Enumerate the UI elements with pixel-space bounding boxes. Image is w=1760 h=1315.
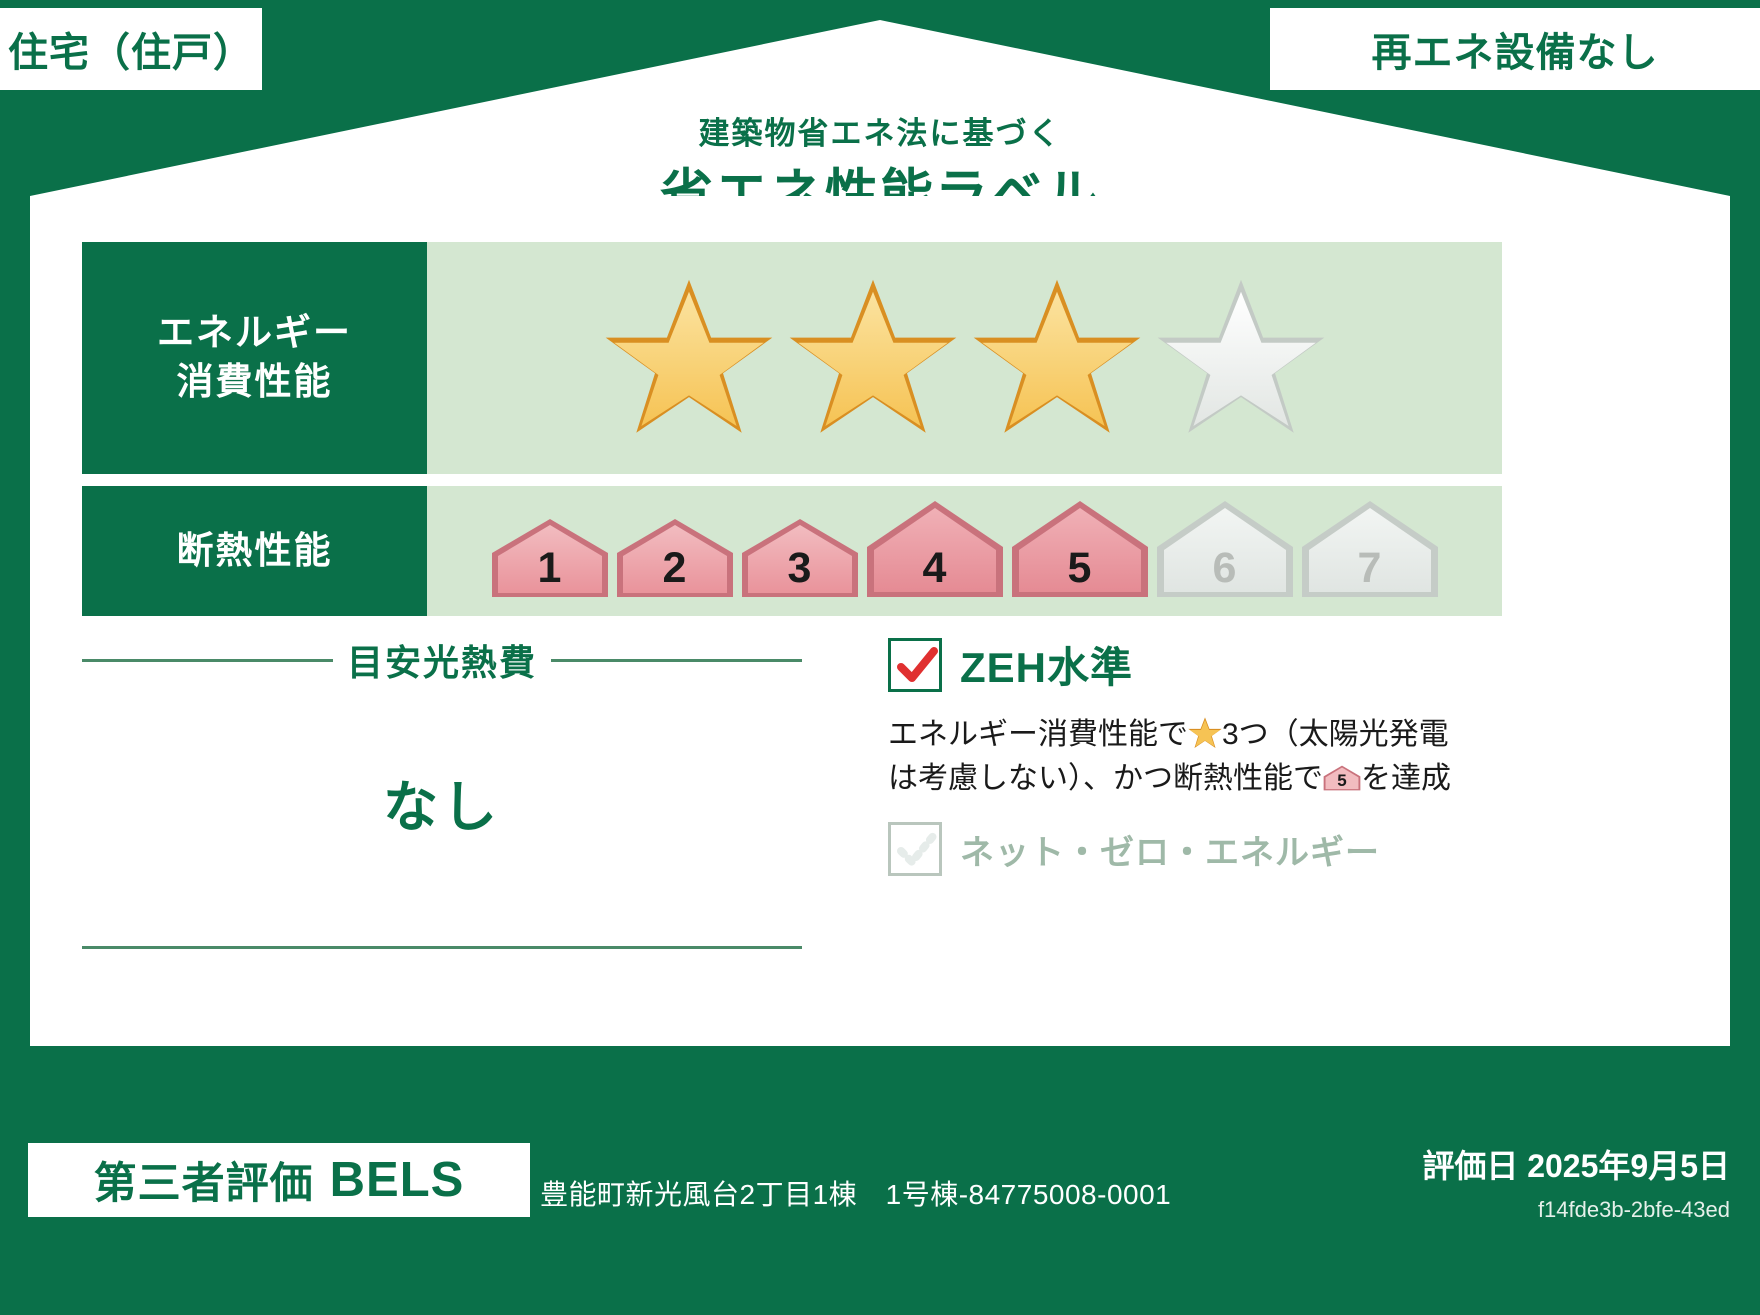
bels-energy-label: 住宅（住戸） 再エネ設備なし 建築物省エネ法に基づく 省エネ性能ラベル エネルギ… [0, 0, 1760, 1315]
star-rating [604, 276, 1326, 440]
label-card: エネルギー 消費性能 [30, 196, 1730, 1046]
zeh-title: ZEH水準 [960, 634, 1133, 695]
zeh-desc-line1-post: 3つ（太陽光発電 [1222, 718, 1449, 751]
utility-cost-title: 目安光熱費 [347, 634, 537, 686]
insulation-level-number: 4 [865, 544, 1005, 593]
zeh-block: ZEH水準 エネルギー消費性能で3つ（太陽光発電 は考慮しない）、かつ断熱性能で… [888, 634, 1518, 876]
footer: 第三者評価 BELS 豊能町新光風台2丁目1棟 1号棟-84775008-000… [0, 1047, 1760, 1315]
star-icon-empty-4 [1156, 276, 1326, 440]
insulation-badge-inline-number: 5 [1323, 769, 1361, 794]
certificate-id: f14fde3b-2bfe-43ed [1538, 1197, 1730, 1223]
energy-label-line1: エネルギー [157, 309, 352, 358]
insulation-level-scale: 1 2 [490, 495, 1440, 607]
badge-renewable-status: 再エネ設備なし [1270, 8, 1760, 90]
insulation-badge-inline: 5 [1323, 761, 1361, 795]
divider-right [551, 659, 802, 662]
net-zero-energy-row: ネット・ゼロ・エネルギー [888, 822, 1518, 876]
star-icon-filled-2 [788, 276, 958, 440]
divider-left [82, 659, 333, 662]
insulation-level-number: 6 [1155, 544, 1295, 593]
utility-cost-header: 目安光熱費 [82, 634, 802, 686]
net-zero-energy-checkbox[interactable] [888, 822, 942, 876]
property-address: 豊能町新光風台2丁目1棟 1号棟-84775008-0001 [540, 1173, 1171, 1213]
insulation-level-number: 2 [615, 544, 735, 593]
star-icon-filled-1 [604, 276, 774, 440]
zeh-desc-line2-post: を達成 [1361, 762, 1451, 795]
insulation-house-6: 6 [1155, 495, 1295, 603]
star-icon-inline [1188, 716, 1222, 750]
insulation-level-number: 5 [1010, 544, 1150, 593]
bels-badge: 第三者評価 BELS [28, 1143, 530, 1217]
insulation-house-3: 3 [740, 513, 860, 603]
insulation-house-2: 2 [615, 513, 735, 603]
zeh-checkbox[interactable] [888, 638, 942, 692]
insulation-house-4: 4 [865, 495, 1005, 603]
insulation-level-number: 1 [490, 544, 610, 593]
title-subtitle: 建築物省エネ法に基づく [0, 108, 1760, 153]
energy-performance-label: エネルギー 消費性能 [82, 242, 427, 474]
energy-performance-row: エネルギー 消費性能 [82, 242, 1502, 474]
zeh-description: エネルギー消費性能で3つ（太陽光発電 は考慮しない）、かつ断熱性能で5を達成 [888, 713, 1518, 800]
zeh-header: ZEH水準 [888, 634, 1518, 695]
zeh-desc-line2-pre: は考慮しない）、かつ断熱性能で [888, 762, 1323, 795]
check-icon [895, 645, 939, 689]
utility-cost-block: 目安光熱費 なし [82, 634, 802, 842]
insulation-house-5: 5 [1010, 495, 1150, 603]
insulation-level-number: 3 [740, 544, 860, 593]
star-icon-filled-3 [972, 276, 1142, 440]
zeh-desc-line1-pre: エネルギー消費性能で [888, 718, 1188, 751]
insulation-house-1: 1 [490, 513, 610, 603]
badge-dwelling-type: 住宅（住戸） [0, 8, 262, 90]
insulation-performance-body: 1 2 [427, 486, 1502, 616]
energy-performance-body [427, 242, 1502, 474]
utility-cost-bottom-rule [82, 946, 802, 949]
insulation-performance-label: 断熱性能 [82, 486, 427, 616]
insulation-level-number: 7 [1300, 544, 1440, 593]
bels-third-party-label: 第三者評価 [94, 1149, 314, 1211]
net-zero-energy-title: ネット・ゼロ・エネルギー [960, 825, 1380, 874]
energy-label-line2: 消費性能 [177, 358, 333, 407]
insulation-house-7: 7 [1300, 495, 1440, 603]
insulation-label-text: 断熱性能 [177, 527, 333, 576]
bels-logo-text: BELS [330, 1152, 465, 1208]
evaluation-date: 評価日 2025年9月5日 [1422, 1141, 1730, 1187]
insulation-performance-row: 断熱性能 1 [82, 486, 1502, 616]
check-icon-unchecked [895, 829, 939, 873]
utility-cost-value: なし [82, 762, 802, 842]
